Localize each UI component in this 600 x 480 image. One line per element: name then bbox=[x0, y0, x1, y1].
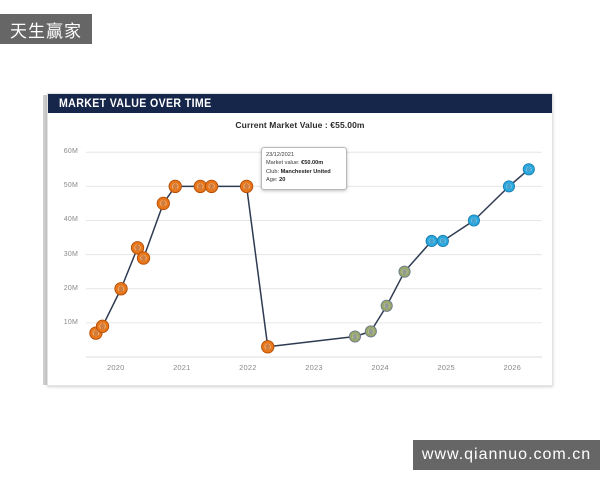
data-point-marker[interactable] bbox=[169, 180, 181, 192]
tooltip-age-value: 20 bbox=[279, 177, 285, 183]
panel-title: MARKET VALUE OVER TIME bbox=[59, 98, 212, 110]
y-axis-tick: 50M bbox=[52, 182, 78, 189]
x-axis-tick: 2022 bbox=[228, 363, 268, 372]
y-axis-tick: 30M bbox=[52, 251, 78, 258]
tooltip-age: Age: 20 bbox=[266, 176, 342, 184]
y-axis-tick: 10M bbox=[52, 319, 78, 326]
data-point-marker[interactable] bbox=[349, 331, 360, 342]
tooltip-date: 23/12/2021 bbox=[266, 151, 342, 159]
data-point-marker[interactable] bbox=[262, 341, 274, 353]
data-point-marker[interactable] bbox=[115, 283, 127, 295]
y-axis-tick: 40M bbox=[52, 216, 78, 223]
tooltip-market-value-amount: €50.00m bbox=[301, 160, 323, 166]
data-point-marker[interactable] bbox=[365, 326, 376, 337]
data-point-marker[interactable] bbox=[399, 266, 410, 277]
data-point-marker[interactable] bbox=[381, 300, 392, 311]
watermark-top-left-text: 天生赢家 bbox=[10, 17, 82, 42]
tooltip-age-label: Age: bbox=[266, 177, 278, 183]
data-point-marker[interactable] bbox=[205, 180, 217, 192]
tooltip-club-name: Manchester United bbox=[281, 169, 331, 175]
x-axis-tick: 2021 bbox=[162, 363, 202, 372]
y-axis-tick: 20M bbox=[52, 285, 78, 292]
data-point-marker[interactable] bbox=[157, 197, 169, 209]
tooltip-club: Club: Manchester United bbox=[266, 168, 342, 176]
x-axis-tick: 2024 bbox=[360, 363, 400, 372]
x-axis-tick: 2026 bbox=[492, 363, 532, 372]
data-point-marker[interactable] bbox=[437, 235, 448, 246]
tooltip-market-value: Market value: €50.00m bbox=[266, 159, 342, 167]
data-point-marker[interactable] bbox=[523, 164, 534, 175]
x-axis-tick: 2020 bbox=[96, 363, 136, 372]
market-value-panel: MARKET VALUE OVER TIME Current Market Va… bbox=[47, 93, 553, 386]
data-point-marker[interactable] bbox=[137, 252, 149, 264]
watermark-top-left: 天生赢家 bbox=[0, 14, 92, 44]
tooltip-market-value-label: Market value: bbox=[266, 160, 300, 166]
data-point-marker[interactable] bbox=[468, 215, 479, 226]
tooltip-club-label: Club: bbox=[266, 169, 279, 175]
x-axis-tick: 2025 bbox=[426, 363, 466, 372]
chart-title: Current Market Value : €55.00m bbox=[48, 120, 552, 130]
watermark-bottom-right-text: www.qiannuo.com.cn bbox=[422, 446, 591, 464]
data-point-marker[interactable] bbox=[240, 180, 252, 192]
data-point-marker[interactable] bbox=[194, 180, 206, 192]
data-point-marker[interactable] bbox=[503, 181, 514, 192]
watermark-bottom-right: www.qiannuo.com.cn bbox=[413, 440, 600, 470]
panel-header: MARKET VALUE OVER TIME bbox=[48, 94, 552, 113]
x-axis-tick: 2023 bbox=[294, 363, 334, 372]
data-point-marker[interactable] bbox=[96, 320, 108, 332]
y-axis-tick: 60M bbox=[52, 148, 78, 155]
data-point-marker[interactable] bbox=[426, 235, 437, 246]
datapoint-tooltip: 23/12/2021 Market value: €50.00m Club: M… bbox=[261, 147, 347, 190]
